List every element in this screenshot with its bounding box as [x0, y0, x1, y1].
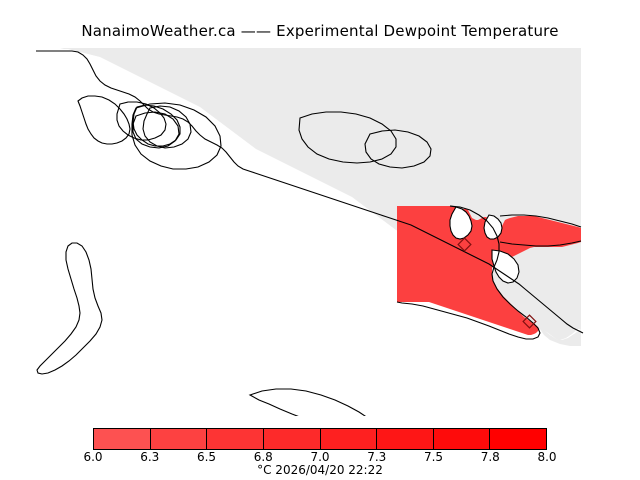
colorbar-cell-5: [377, 429, 434, 449]
colorbar-caption: °C 2026/04/20 22:22: [0, 463, 640, 477]
weather-map-page: NanaimoWeather.ca —— Experimental Dewpoi…: [0, 0, 640, 480]
page-title: NanaimoWeather.ca —— Experimental Dewpoi…: [0, 22, 640, 40]
colorbar: [93, 428, 547, 450]
map-canvas[interactable]: [0, 46, 640, 416]
colorbar-strip: [93, 428, 547, 450]
colorbar-cell-3: [264, 429, 321, 449]
colorbar-tick-7.8: 7.8: [481, 450, 500, 464]
colorbar-cell-1: [151, 429, 208, 449]
colorbar-cell-2: [207, 429, 264, 449]
colorbar-tick-6.3: 6.3: [140, 450, 159, 464]
colorbar-cell-0: [94, 429, 151, 449]
colorbar-tick-6.5: 6.5: [197, 450, 216, 464]
colorbar-tick-7.0: 7.0: [310, 450, 329, 464]
colorbar-tick-6.0: 6.0: [83, 450, 102, 464]
colorbar-cell-6: [434, 429, 491, 449]
colorbar-tick-8.0: 8.0: [537, 450, 556, 464]
colorbar-tick-7.5: 7.5: [424, 450, 443, 464]
colorbar-tick-6.8: 6.8: [254, 450, 273, 464]
colorbar-cell-4: [321, 429, 378, 449]
colorbar-cell-7: [490, 429, 546, 449]
map-graphic: [0, 46, 640, 416]
colorbar-tick-7.3: 7.3: [367, 450, 386, 464]
